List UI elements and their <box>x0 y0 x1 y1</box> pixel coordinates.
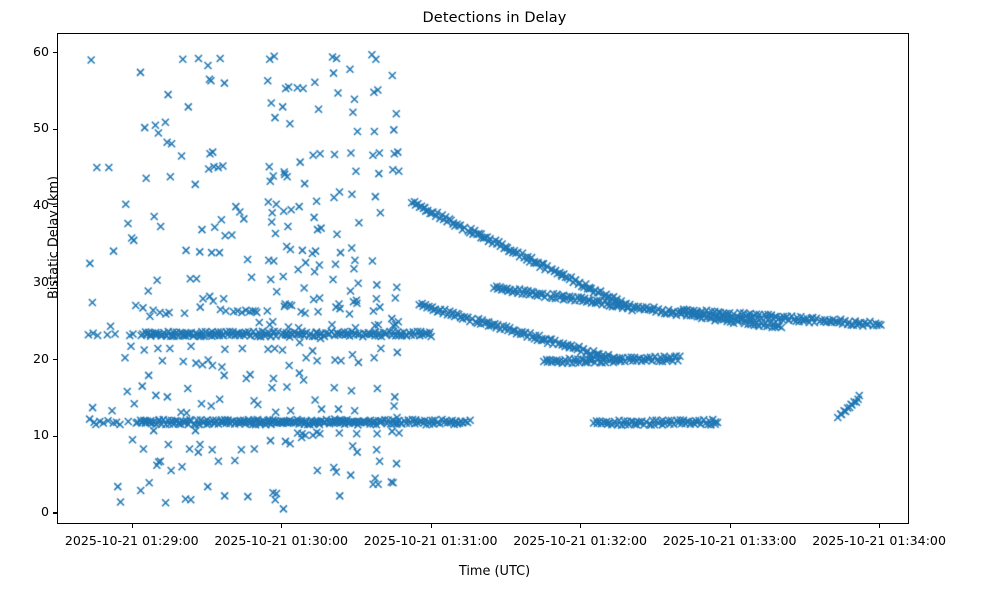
x-tick-mark <box>879 524 880 528</box>
y-tick-label: 20 <box>5 353 49 366</box>
x-tick-mark <box>281 524 282 528</box>
y-tick-label: 0 <box>5 506 49 519</box>
x-tick-mark <box>730 524 731 528</box>
scatter-plot-canvas <box>58 34 909 524</box>
plot-area <box>57 33 909 524</box>
page-title: Detections in Delay <box>0 10 989 26</box>
x-tick-mark <box>580 524 581 528</box>
matplotlib-figure: Detections in Delay Bistatic Delay (km) … <box>0 0 989 590</box>
x-tick-mark <box>431 524 432 528</box>
y-tick-label: 60 <box>5 46 49 59</box>
y-tick-label: 30 <box>5 276 49 289</box>
x-tick-label: 2025-10-21 01:34:00 <box>779 535 979 548</box>
x-axis-label: Time (UTC) <box>0 564 989 579</box>
x-tick-mark <box>132 524 133 528</box>
y-tick-label: 50 <box>5 122 49 135</box>
y-tick-label: 40 <box>5 199 49 212</box>
y-tick-label: 10 <box>5 429 49 442</box>
